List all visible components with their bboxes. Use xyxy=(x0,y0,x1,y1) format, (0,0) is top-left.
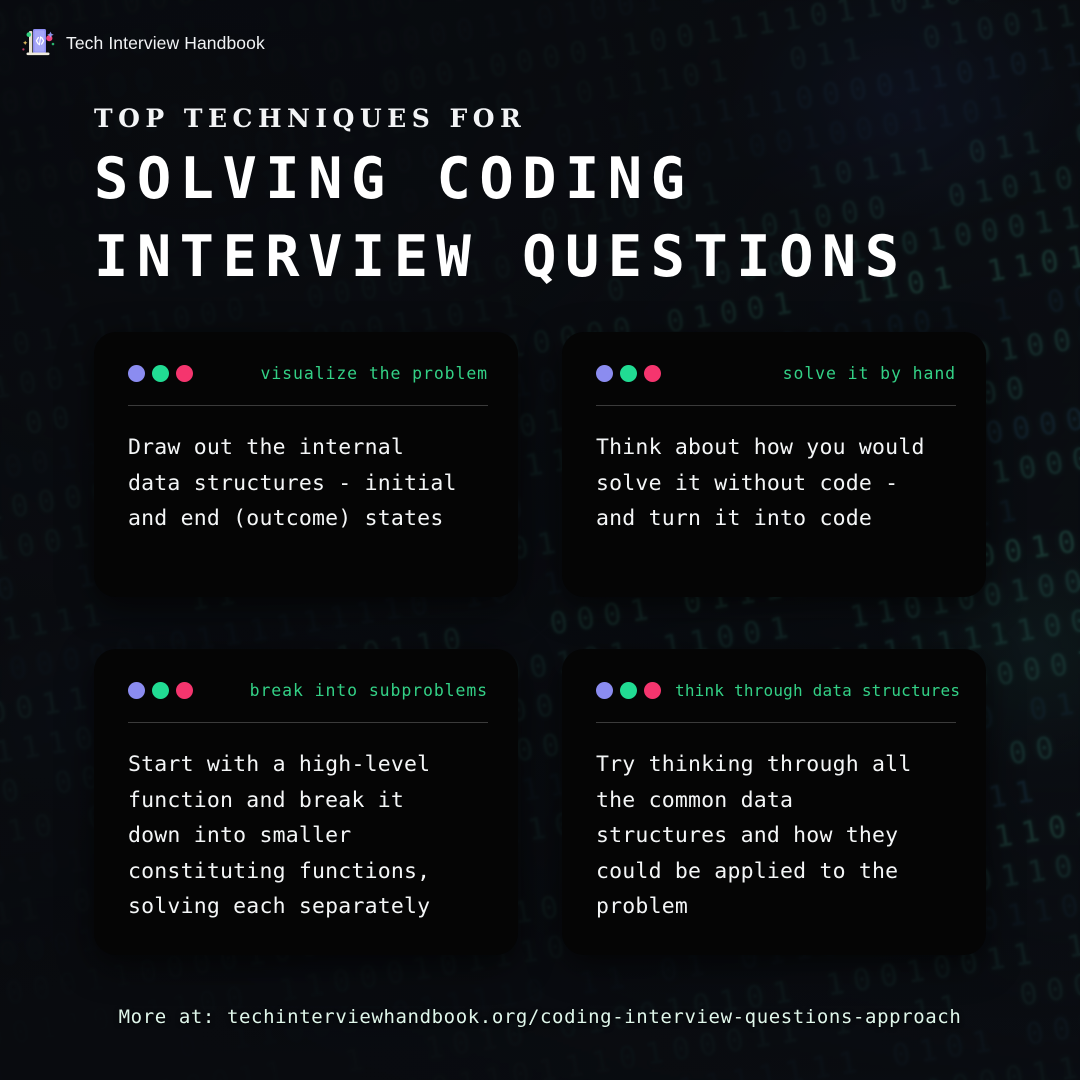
card-body-text: Start with a high-level function and bre… xyxy=(128,747,488,925)
window-dot-pink-icon xyxy=(176,365,193,382)
book-code-logo-icon xyxy=(20,26,56,60)
card-divider xyxy=(128,405,488,406)
technique-card[interactable]: visualize the problem Draw out the inter… xyxy=(94,332,518,597)
window-dot-purple-icon xyxy=(596,682,613,699)
brand-bar[interactable]: Tech Interview Handbook xyxy=(20,26,265,60)
brand-name: Tech Interview Handbook xyxy=(66,33,265,54)
card-header: think through data structures xyxy=(596,675,956,705)
window-dot-pink-icon xyxy=(176,682,193,699)
window-dot-green-icon xyxy=(152,682,169,699)
card-body-text: Draw out the internal data structures - … xyxy=(128,430,488,537)
window-dots xyxy=(596,365,661,382)
card-header: visualize the problem xyxy=(128,358,488,388)
card-label: solve it by hand xyxy=(675,364,956,383)
technique-card[interactable]: think through data structures Try thinki… xyxy=(562,649,986,955)
window-dot-pink-icon xyxy=(644,682,661,699)
headline-line-2: INTERVIEW QUESTIONS xyxy=(94,225,908,289)
card-divider xyxy=(128,722,488,723)
technique-card-grid: visualize the problem Draw out the inter… xyxy=(94,332,986,955)
window-dots xyxy=(596,682,661,699)
card-header: break into subproblems xyxy=(128,675,488,705)
technique-card[interactable]: break into subproblems Start with a high… xyxy=(94,649,518,955)
window-dot-green-icon xyxy=(620,682,637,699)
headline-eyebrow: TOP TECHNIQUES FOR xyxy=(94,104,908,133)
window-dots xyxy=(128,682,193,699)
card-body-text: Try thinking through all the common data… xyxy=(596,747,956,925)
card-divider xyxy=(596,405,956,406)
window-dot-green-icon xyxy=(152,365,169,382)
card-label: visualize the problem xyxy=(207,364,488,383)
footer-link[interactable]: More at: techinterviewhandbook.org/codin… xyxy=(0,1006,1080,1028)
technique-card[interactable]: solve it by hand Think about how you wou… xyxy=(562,332,986,597)
card-label: break into subproblems xyxy=(207,681,488,700)
card-label: think through data structures xyxy=(675,681,960,700)
window-dot-purple-icon xyxy=(128,682,145,699)
window-dot-pink-icon xyxy=(644,365,661,382)
window-dot-purple-icon xyxy=(128,365,145,382)
window-dots xyxy=(128,365,193,382)
headline-block: TOP TECHNIQUES FOR SOLVING CODING INTERV… xyxy=(94,104,908,289)
card-header: solve it by hand xyxy=(596,358,956,388)
headline-line-1: SOLVING CODING xyxy=(94,147,908,211)
window-dot-purple-icon xyxy=(596,365,613,382)
window-dot-green-icon xyxy=(620,365,637,382)
poster-canvas: 1111 010001110 1010 0 1010101 0 01111110… xyxy=(0,0,1080,1080)
card-body-text: Think about how you would solve it witho… xyxy=(596,430,956,537)
card-divider xyxy=(596,722,956,723)
